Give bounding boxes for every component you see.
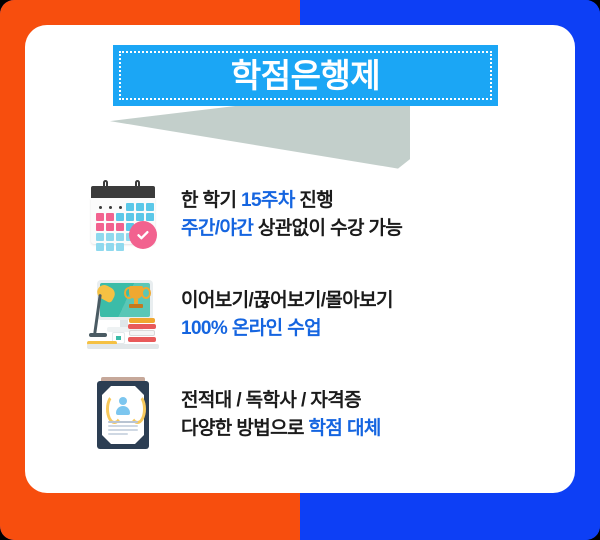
feature-line-2: 다양한 방법으로 학점 대체 (181, 415, 381, 443)
person-icon (119, 397, 127, 405)
white-card: 학점은행제 (25, 25, 575, 493)
book-icon (129, 330, 155, 336)
calendar-header (91, 186, 155, 198)
calendar-check-icon (87, 174, 159, 256)
laurel-wreath-icon (129, 394, 146, 424)
book-icon (128, 324, 156, 329)
banner-area: 학점은행제 (25, 25, 575, 175)
certificate-text-line (108, 425, 138, 427)
feature-line-1: 전적대 / 독학사 / 자격증 (181, 387, 381, 415)
feature-row: 전적대 / 독학사 / 자격증 다양한 방법으로 학점 대체 (25, 365, 575, 465)
feature-text: 이어보기/끊어보기/몰아보기 100% 온라인 수업 (181, 287, 393, 342)
desk-surface (87, 344, 159, 349)
feature-line-2: 주간/야간 상관없이 수강 가능 (181, 215, 402, 243)
page-title: 학점은행제 (113, 45, 498, 106)
certificate-icon (87, 374, 159, 456)
lamp-base (89, 333, 107, 337)
feature-line-1: 이어보기/끊어보기/몰아보기 (181, 287, 393, 315)
feature-line-1: 한 학기 15주차 진행 (181, 187, 402, 215)
feature-text: 한 학기 15주차 진행 주간/야간 상관없이 수강 가능 (181, 187, 402, 242)
feature-list: 한 학기 15주차 진행 주간/야간 상관없이 수강 가능 (25, 165, 575, 465)
certificate-text-line (108, 429, 138, 431)
book-icon (129, 318, 155, 323)
feature-row: 한 학기 15주차 진행 주간/야간 상관없이 수강 가능 (25, 165, 575, 265)
desk-monitor-icon (87, 274, 159, 356)
title-banner: 학점은행제 (113, 45, 498, 106)
check-badge-icon (129, 221, 157, 249)
trophy-foot (129, 304, 143, 308)
person-icon-body (116, 406, 130, 415)
feature-line-2: 100% 온라인 수업 (181, 315, 393, 343)
feature-text: 전적대 / 독학사 / 자격증 다양한 방법으로 학점 대체 (181, 387, 381, 442)
certificate-text-line (108, 433, 128, 435)
book-icon (128, 337, 156, 342)
poster: 학점은행제 (0, 0, 600, 540)
monitor-neck (120, 320, 128, 327)
certificate-text-line (108, 421, 138, 423)
feature-row: 이어보기/끊어보기/몰아보기 100% 온라인 수업 (25, 265, 575, 365)
